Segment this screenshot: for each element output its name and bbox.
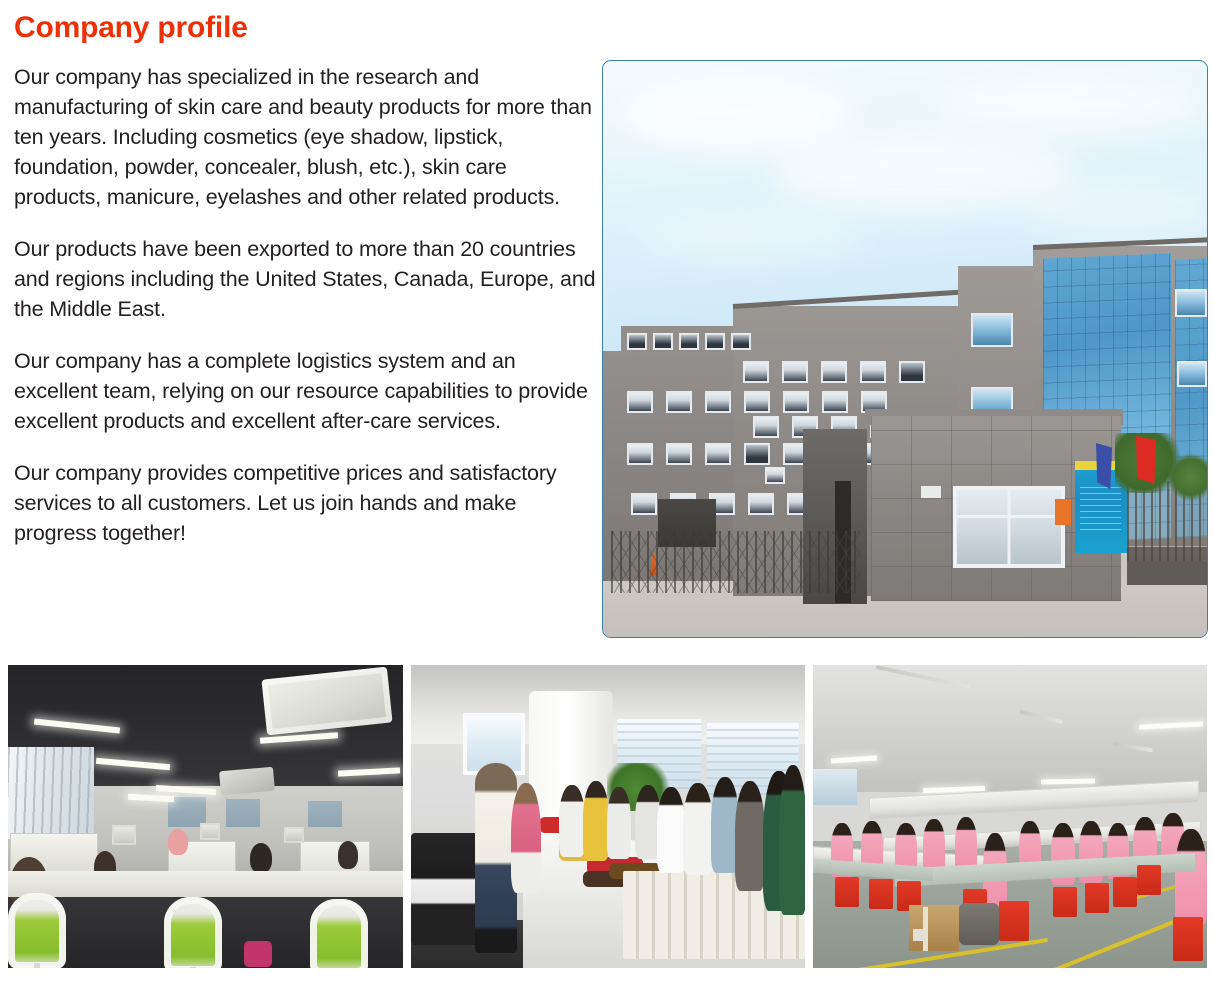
page-title: Company profile <box>14 8 248 48</box>
party-guest <box>559 785 585 857</box>
ceiling-air-conditioner <box>219 767 275 796</box>
computer-monitor <box>200 823 220 840</box>
cloud <box>643 211 863 261</box>
party-guest <box>657 787 685 873</box>
window-blind-panel <box>226 799 260 827</box>
profile-paragraph-4: Our company provides competitive prices … <box>14 458 596 548</box>
office-chair <box>164 897 222 968</box>
gallery-photo-strip <box>8 665 1207 968</box>
profile-paragraph-3: Our company has a complete logistics sys… <box>14 346 596 436</box>
red-stool <box>835 877 859 907</box>
ceiling-light <box>1041 779 1095 785</box>
window-blind-panel <box>308 801 342 827</box>
window-blinds <box>8 747 94 839</box>
carton-box <box>909 905 959 951</box>
window <box>666 443 692 465</box>
party-guest <box>511 783 541 893</box>
window <box>627 443 653 465</box>
window <box>666 391 692 413</box>
window-row-right <box>1175 289 1207 317</box>
sofa <box>411 833 483 945</box>
computer-monitor <box>284 827 304 843</box>
office-worker <box>168 829 188 855</box>
party-guest <box>583 781 609 861</box>
chair-base <box>34 963 40 968</box>
window <box>744 443 770 465</box>
window <box>744 391 770 413</box>
office-worker <box>338 841 358 869</box>
window <box>783 391 809 413</box>
door-mullion <box>957 515 1061 518</box>
window-row <box>627 391 887 413</box>
window <box>627 333 647 350</box>
red-stool <box>1113 877 1137 907</box>
red-stool <box>999 901 1029 941</box>
company-party-photo <box>411 665 805 968</box>
red-flag <box>1136 436 1156 484</box>
office-chair <box>8 893 66 968</box>
window <box>627 391 653 413</box>
entrance-door <box>953 486 1065 568</box>
window-row-tower <box>971 313 1013 347</box>
window <box>765 467 785 484</box>
party-guest <box>779 765 805 915</box>
window <box>1177 361 1207 387</box>
party-guest <box>683 783 713 875</box>
party-guest <box>735 781 765 891</box>
window <box>899 361 925 383</box>
wall-sign <box>921 486 941 498</box>
window <box>860 361 886 383</box>
red-stool <box>1053 887 1077 917</box>
red-stool <box>869 879 893 909</box>
party-guest <box>607 787 631 859</box>
office-worker <box>250 843 272 873</box>
cloud <box>933 76 1203 136</box>
window-row-right <box>1177 361 1207 387</box>
parapet-louvers <box>627 333 751 350</box>
door-mullion <box>1008 490 1011 564</box>
computer-monitor <box>112 825 136 845</box>
profile-paragraph-2: Our products have been exported to more … <box>14 234 596 324</box>
building-photo-canvas <box>603 61 1207 637</box>
box-tape <box>923 907 928 951</box>
orange-notice <box>1055 499 1071 525</box>
box-label <box>913 929 923 941</box>
blue-flag <box>1096 443 1112 489</box>
red-stool <box>1137 865 1161 895</box>
handbag <box>244 941 272 967</box>
window <box>821 361 847 383</box>
window <box>782 361 808 383</box>
profile-paragraph-1: Our company has specialized in the resea… <box>14 62 596 212</box>
company-profile-page: Company profile Our company has speciali… <box>0 0 1213 988</box>
window <box>971 313 1013 347</box>
office-chair <box>310 899 368 968</box>
window <box>1175 289 1207 317</box>
company-profile-text: Our company has specialized in the resea… <box>14 62 596 548</box>
tree <box>1169 453 1208 501</box>
window <box>822 391 848 413</box>
window <box>743 361 769 383</box>
red-stool <box>1173 917 1203 961</box>
window <box>748 493 774 515</box>
window <box>631 493 657 515</box>
window <box>679 333 699 350</box>
sliding-gate-lattice <box>611 531 861 593</box>
office-window <box>8 747 94 839</box>
window-row <box>743 361 925 383</box>
company-building-exterior-photo <box>602 60 1208 638</box>
red-stool <box>1085 883 1109 913</box>
window <box>731 333 751 350</box>
production-worker <box>923 819 945 873</box>
window <box>753 416 779 438</box>
window <box>653 333 673 350</box>
production-line-photo <box>813 665 1207 968</box>
cloud <box>623 81 853 151</box>
window <box>705 333 725 350</box>
production-worker <box>1175 829 1207 925</box>
waste-drum <box>959 903 999 945</box>
desk-surface <box>8 871 403 897</box>
factory-window <box>813 769 857 805</box>
window <box>705 391 731 413</box>
chair-base <box>190 967 196 968</box>
window <box>705 443 731 465</box>
office-workspace-photo <box>8 665 403 968</box>
cloud <box>1023 181 1208 241</box>
